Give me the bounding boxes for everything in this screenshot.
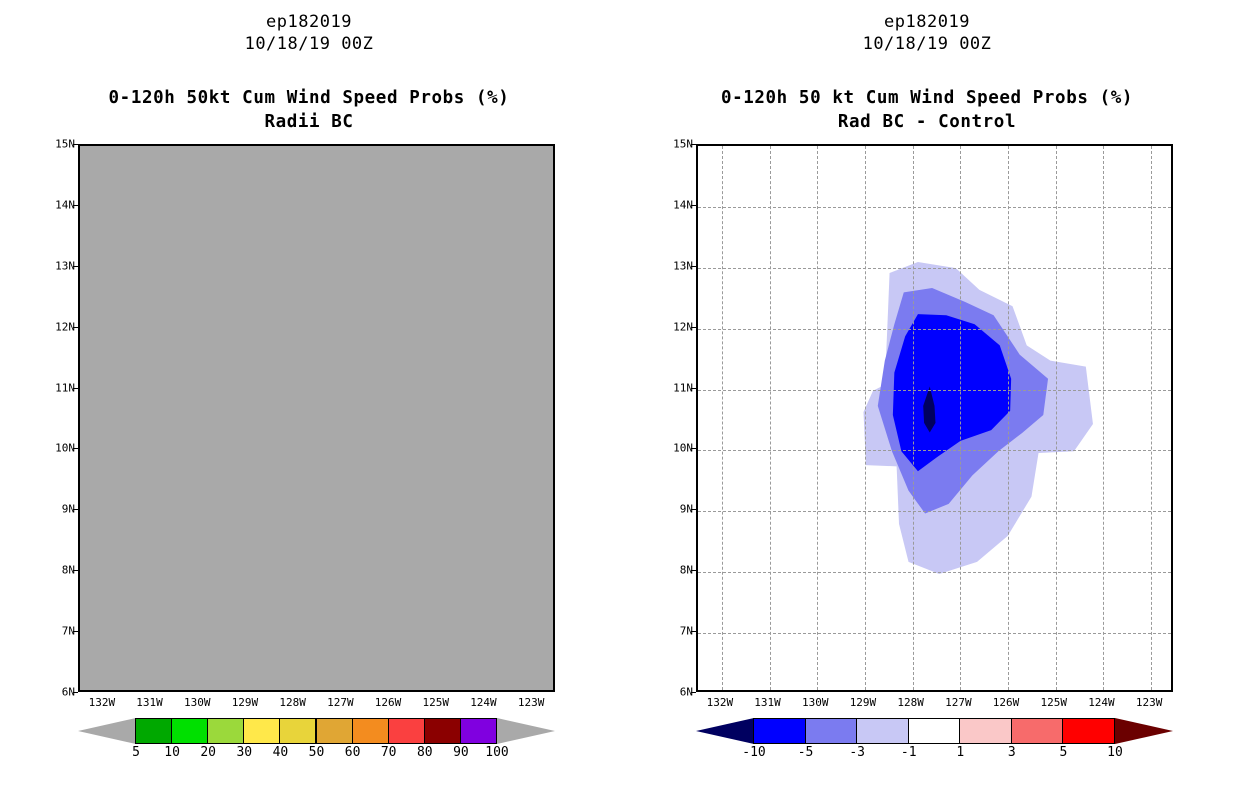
right-colorbar-arrow-low xyxy=(696,718,754,744)
left-chart-subtitle: Radii BC xyxy=(0,112,618,132)
right-colorbar-tick-label: -3 xyxy=(849,745,865,760)
left-ytick-mark xyxy=(73,205,78,206)
right-ytick-mark xyxy=(691,144,696,145)
left-ytick-mark xyxy=(73,631,78,632)
right-xtick-label: 127W xyxy=(945,696,972,709)
right-xtick-label: 128W xyxy=(897,696,924,709)
right-ytick-mark xyxy=(691,205,696,206)
left-xtick-label: 131W xyxy=(136,696,163,709)
left-chart-title: 0-120h 50kt Cum Wind Speed Probs (%) xyxy=(0,88,618,108)
right-chart-subtitle: Rad BC - Control xyxy=(618,112,1236,132)
left-colorbar-segment xyxy=(316,718,353,744)
right-ytick-mark xyxy=(691,388,696,389)
right-colorbar-tick-label: -5 xyxy=(798,745,814,760)
right-xtick-label: 129W xyxy=(850,696,877,709)
right-xtick-label: 126W xyxy=(993,696,1020,709)
left-map-area: 15N14N13N12N11N10N9N8N7N6N132W131W130W12… xyxy=(78,144,555,692)
left-colorbar: 5102030405060708090100 xyxy=(78,718,555,744)
right-xtick-label: 124W xyxy=(1088,696,1115,709)
left-colorbar-segment xyxy=(243,718,280,744)
left-ytick-mark xyxy=(73,388,78,389)
left-datetime: 10/18/19 00Z xyxy=(0,34,618,54)
right-xtick-label: 131W xyxy=(754,696,781,709)
left-colorbar-tick-label: 30 xyxy=(236,745,252,760)
right-colorbar-tick-label: -1 xyxy=(901,745,917,760)
left-colorbar-tick-label: 70 xyxy=(381,745,397,760)
right-colorbar-tick-label: 3 xyxy=(1008,745,1016,760)
left-xtick-label: 130W xyxy=(184,696,211,709)
right-ytick-mark xyxy=(691,266,696,267)
left-colorbar-segment xyxy=(279,718,316,744)
right-colorbar-segment xyxy=(856,718,909,744)
left-xtick-label: 123W xyxy=(518,696,545,709)
left-colorbar-segment xyxy=(424,718,461,744)
right-colorbar-tick-label: 5 xyxy=(1060,745,1068,760)
right-ytick-mark xyxy=(691,448,696,449)
left-colorbar-segment xyxy=(460,718,497,744)
right-plot-canvas xyxy=(696,144,1173,692)
right-ytick-mark xyxy=(691,509,696,510)
right-colorbar-segment xyxy=(908,718,961,744)
left-ytick-mark xyxy=(73,144,78,145)
right-case-id: ep182019 xyxy=(618,12,1236,32)
right-xtick-label: 123W xyxy=(1136,696,1163,709)
left-colorbar-arrow-high xyxy=(497,718,555,744)
right-ytick-mark xyxy=(691,631,696,632)
left-ytick-mark xyxy=(73,570,78,571)
right-colorbar-segment xyxy=(753,718,806,744)
left-colorbar-tick-label: 50 xyxy=(309,745,325,760)
left-xtick-label: 125W xyxy=(423,696,450,709)
left-xtick-label: 128W xyxy=(279,696,306,709)
left-colorbar-tick-label: 40 xyxy=(273,745,289,760)
left-colorbar-segment xyxy=(207,718,244,744)
right-map-area: 15N14N13N12N11N10N9N8N7N6N132W131W130W12… xyxy=(696,144,1173,692)
left-xtick-label: 124W xyxy=(470,696,497,709)
left-ytick-mark xyxy=(73,448,78,449)
right-colorbar-tick-label: 10 xyxy=(1107,745,1123,760)
right-colorbar-arrow-high xyxy=(1115,718,1173,744)
left-colorbar-segment xyxy=(388,718,425,744)
left-ytick-mark xyxy=(73,692,78,693)
right-colorbar: -10-5-3-113510 xyxy=(696,718,1173,744)
left-case-id: ep182019 xyxy=(0,12,618,32)
right-colorbar-segment xyxy=(1011,718,1064,744)
right-xtick-label: 130W xyxy=(802,696,829,709)
right-colorbar-tick-label: 1 xyxy=(956,745,964,760)
left-colorbar-tick-label: 100 xyxy=(485,745,508,760)
panel-left: ep182019 10/18/19 00Z 0-120h 50kt Cum Wi… xyxy=(0,0,618,800)
left-ytick-mark xyxy=(73,266,78,267)
right-ytick-mark xyxy=(691,570,696,571)
left-colorbar-arrow-low xyxy=(78,718,136,744)
right-chart-title: 0-120h 50 kt Cum Wind Speed Probs (%) xyxy=(618,88,1236,108)
left-colorbar-tick-label: 5 xyxy=(132,745,140,760)
right-colorbar-segment xyxy=(959,718,1012,744)
right-colorbar-tick-label: -10 xyxy=(742,745,765,760)
left-colorbar-segment xyxy=(135,718,172,744)
panel-right: ep182019 10/18/19 00Z 0-120h 50 kt Cum W… xyxy=(618,0,1236,800)
right-colorbar-segment xyxy=(1062,718,1115,744)
right-ytick-mark xyxy=(691,692,696,693)
left-ytick-mark xyxy=(73,327,78,328)
right-datetime: 10/18/19 00Z xyxy=(618,34,1236,54)
left-colorbar-tick-label: 90 xyxy=(453,745,469,760)
right-colorbar-segment xyxy=(805,718,858,744)
left-ytick-mark xyxy=(73,509,78,510)
left-plot-canvas xyxy=(78,144,555,692)
left-xtick-label: 132W xyxy=(89,696,116,709)
right-ytick-mark xyxy=(691,327,696,328)
left-xtick-label: 127W xyxy=(327,696,354,709)
left-xtick-label: 129W xyxy=(232,696,259,709)
left-colorbar-tick-label: 10 xyxy=(164,745,180,760)
left-colorbar-segment xyxy=(171,718,208,744)
left-colorbar-tick-label: 80 xyxy=(417,745,433,760)
left-xtick-label: 126W xyxy=(375,696,402,709)
left-colorbar-tick-label: 60 xyxy=(345,745,361,760)
left-colorbar-segment xyxy=(352,718,389,744)
wind-probability-difference-contours xyxy=(698,146,1171,690)
right-xtick-label: 125W xyxy=(1041,696,1068,709)
left-colorbar-tick-label: 20 xyxy=(200,745,216,760)
right-xtick-label: 132W xyxy=(707,696,734,709)
